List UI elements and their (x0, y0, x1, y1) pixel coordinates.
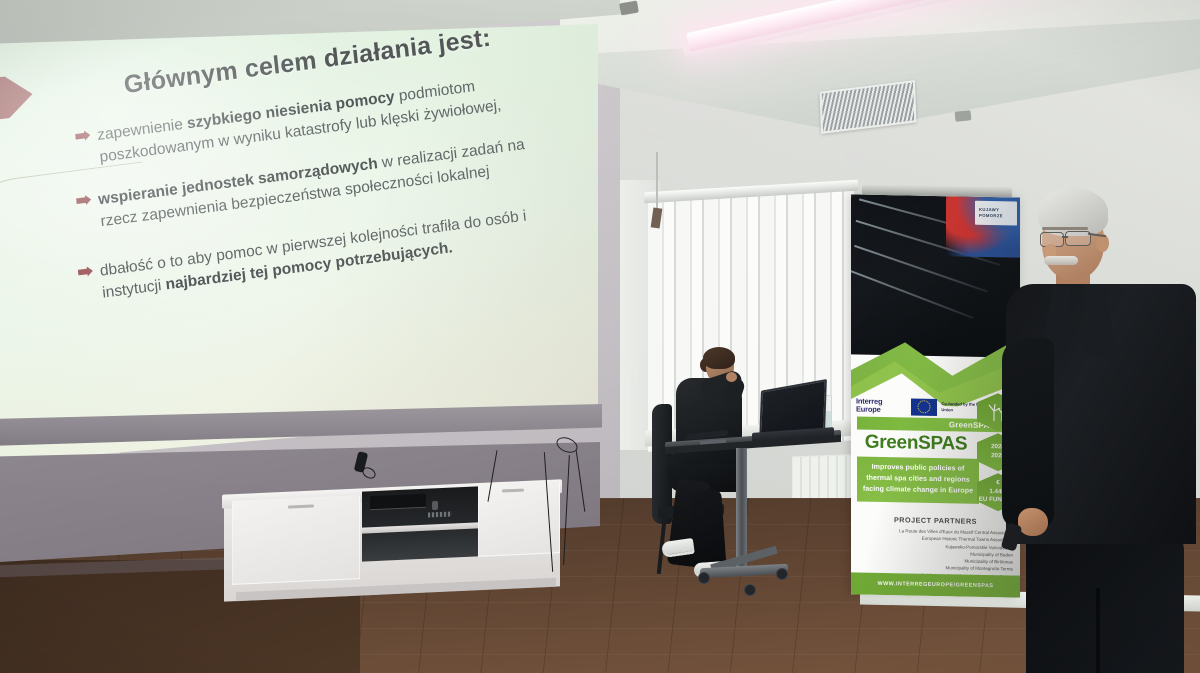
banner-footer: WWW.INTERREGEUROPE/GREENSPAS (851, 572, 1020, 597)
presenter-arm (1002, 338, 1054, 528)
seated-person-hair (703, 347, 735, 369)
seated-person-hand (726, 372, 737, 382)
slide-decoration-arrow (0, 73, 35, 127)
caster-wheel (776, 568, 788, 580)
banner-project-title: GreenSPAS (851, 431, 981, 455)
presenter-hand (1018, 508, 1048, 536)
presenter-moustache (1044, 256, 1078, 265)
conference-room-photo: Głównym celem działania jest: zapewnieni… (0, 0, 1200, 673)
projected-slide: Głównym celem działania jest: zapewnieni… (0, 24, 598, 464)
caster-wheel (744, 584, 756, 596)
eyeglasses-bridge (1062, 236, 1068, 238)
presenter-person (1000, 188, 1200, 673)
presenter-remote[interactable] (1001, 522, 1023, 551)
banner-photo-solar-panels: KUJAWY POMORZE (851, 194, 1020, 357)
eu-stars-icon (918, 400, 931, 413)
av-receiver (370, 494, 426, 511)
interreg-logo-text: Interreg Europe (856, 398, 907, 415)
eu-flag-icon (911, 398, 937, 415)
av-connector (432, 501, 438, 510)
presenter-ear (1096, 234, 1109, 252)
presenter-eyebrow (1042, 227, 1088, 230)
laptop-stand-column (736, 448, 747, 568)
console-cabinet-left[interactable] (232, 495, 360, 585)
arrow-marker-icon (75, 130, 91, 142)
projection-screen: Głównym celem działania jest: zapewnieni… (0, 24, 598, 464)
banner-url[interactable]: WWW.INTERREGEUROPE/GREENSPAS (877, 581, 993, 589)
greenspas-rollup-banner: KUJAWY POMORZE Interreg Europe Co-funded… (851, 194, 1020, 597)
hanging-wire (656, 152, 658, 210)
interreg-europe-logo: Interreg Europe (856, 398, 907, 415)
banner-tagline: Improves public policies of thermal spa … (857, 456, 979, 503)
caster-wheel (698, 572, 710, 584)
presenter-trouser-seam (1096, 588, 1100, 673)
ceiling-sensor (955, 110, 972, 122)
presenter-legs (1026, 528, 1184, 673)
